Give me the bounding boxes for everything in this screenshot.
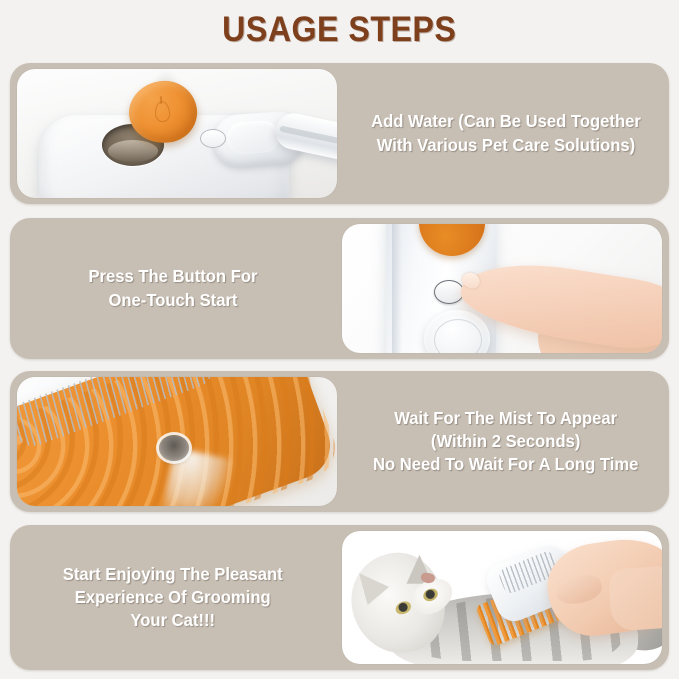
- step-panel-2: Press The Button For One-Touch Start: [10, 218, 669, 359]
- step-4-caption-text: Start Enjoying The Pleasant Experience O…: [63, 563, 283, 633]
- step-2-photo: [342, 224, 662, 353]
- cat-ear-left-shape: [348, 564, 389, 605]
- step-1-caption-text: Add Water (Can Be Used Together With Var…: [371, 110, 641, 157]
- usage-steps-infographic: USAGE STEPS Add Water (Can Be Used Toget…: [0, 0, 679, 679]
- step-3-caption-text: Wait For The Mist To Appear (Within 2 Se…: [373, 407, 638, 477]
- step-2-caption-text: Press The Button For One-Touch Start: [88, 265, 257, 312]
- wrist-shape: [608, 564, 662, 631]
- water-droplet-icon: [154, 101, 170, 123]
- mist-nozzle-shape: [159, 435, 189, 461]
- step-panel-4: Start Enjoying The Pleasant Experience O…: [10, 525, 669, 670]
- step-1-photo: [17, 69, 337, 198]
- step-4-photo: [342, 531, 662, 664]
- step-3-caption-container: Wait For The Mist To Appear (Within 2 Se…: [343, 371, 669, 512]
- step-3-photo: [17, 377, 337, 506]
- step-panel-1: Add Water (Can Be Used Together With Var…: [10, 63, 669, 204]
- step-panel-3: Wait For The Mist To Appear (Within 2 Se…: [10, 371, 669, 512]
- page-title-container: USAGE STEPS: [0, 0, 679, 60]
- step-4-caption-container: Start Enjoying The Pleasant Experience O…: [10, 525, 336, 670]
- step-1-caption-container: Add Water (Can Be Used Together With Var…: [343, 63, 669, 204]
- step-2-caption-container: Press The Button For One-Touch Start: [10, 218, 336, 359]
- button-ring-shape: [200, 129, 226, 148]
- page-title: USAGE STEPS: [222, 10, 456, 50]
